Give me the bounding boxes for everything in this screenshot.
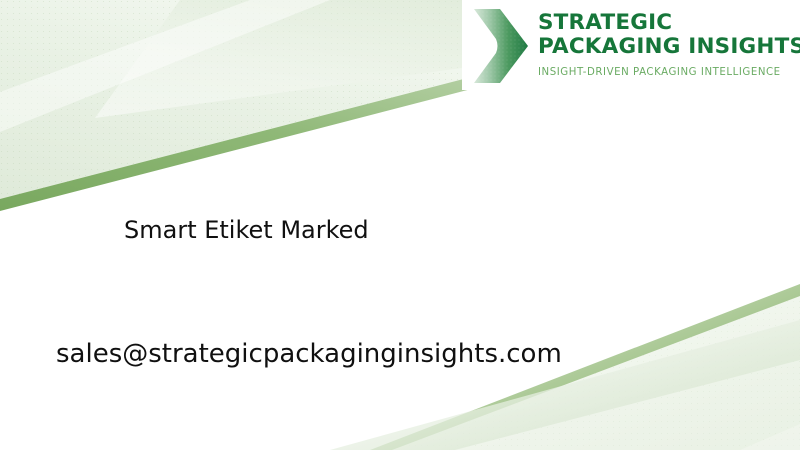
headline-text: Smart Etiket Marked — [124, 214, 369, 246]
slide-canvas: STRATEGIC PACKAGING INSIGHTS INSIGHT-DRI… — [0, 0, 800, 450]
company-logo: STRATEGIC PACKAGING INSIGHTS INSIGHT-DRI… — [462, 0, 800, 90]
logo-line-2: PACKAGING INSIGHTS — [538, 35, 796, 59]
contact-email-text: sales@strategicpackaginginsights.com — [56, 337, 562, 371]
chevron-arrow-icon — [470, 7, 532, 85]
logo-line-1: STRATEGIC — [538, 11, 796, 35]
logo-wordmark: STRATEGIC PACKAGING INSIGHTS INSIGHT-DRI… — [538, 11, 796, 79]
logo-tagline: INSIGHT-DRIVEN PACKAGING INTELLIGENCE — [538, 67, 796, 79]
